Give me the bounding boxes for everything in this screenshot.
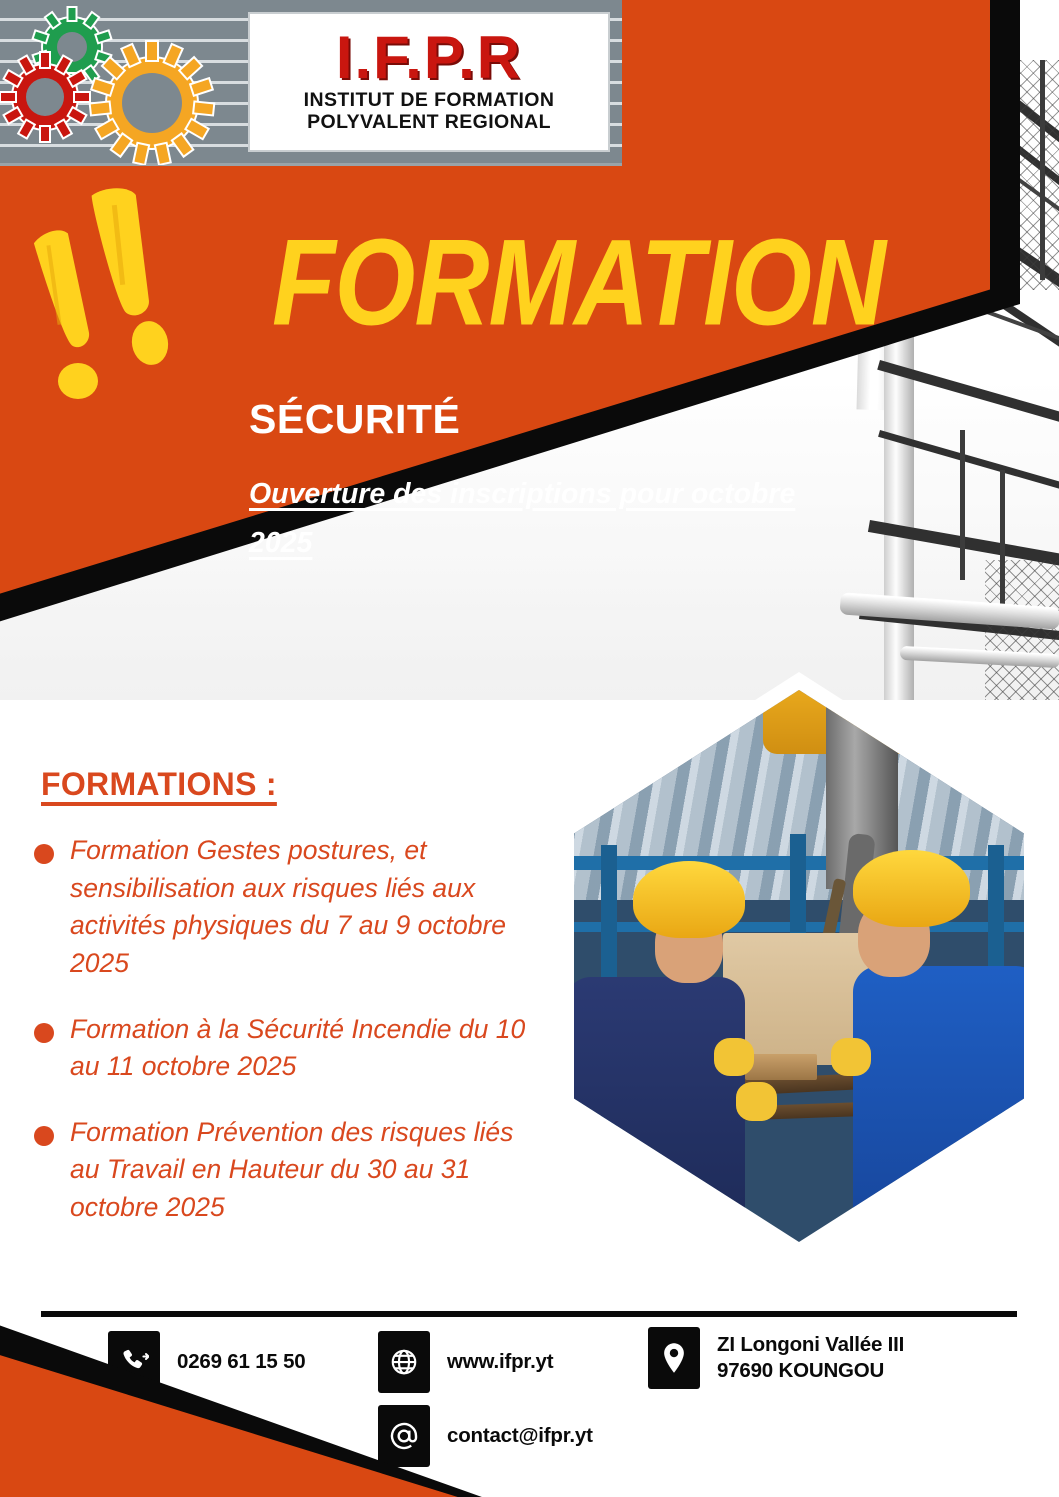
- hero-subject: SÉCURITÉ: [249, 396, 460, 443]
- list-item-label: Formation à la Sécurité Incendie du 10 a…: [70, 1011, 539, 1086]
- ifpr-logo: I.F.P.R INSTITUT DE FORMATION POLYVALENT…: [0, 0, 622, 166]
- email-address: contact@ifpr.yt: [447, 1423, 593, 1449]
- list-item-label: Formation Prévention des risques liés au…: [70, 1114, 539, 1227]
- formations-list: Formation Gestes postures, et sensibilis…: [34, 832, 539, 1255]
- list-item: Formation à la Sécurité Incendie du 10 a…: [34, 1011, 539, 1086]
- address-line-1: ZI Longoni Vallée III: [717, 1333, 904, 1356]
- page-title: FORMATION: [272, 222, 885, 345]
- workers-photo: [560, 672, 1038, 1260]
- globe-icon: [378, 1331, 430, 1393]
- list-item: Formation Prévention des risques liés au…: [34, 1114, 539, 1227]
- list-item-label: Formation Gestes postures, et sensibilis…: [70, 832, 539, 983]
- formations-heading: FORMATIONS :: [41, 766, 277, 803]
- bullet-icon: [34, 1023, 54, 1043]
- logo-acronym: I.F.P.R: [336, 29, 522, 86]
- logo-nameplate: I.F.P.R INSTITUT DE FORMATION POLYVALENT…: [248, 12, 610, 152]
- bullet-icon: [34, 844, 54, 864]
- at-sign-icon: [378, 1405, 430, 1467]
- list-item: Formation Gestes postures, et sensibilis…: [34, 832, 539, 983]
- hero-announcement: Ouverture des inscriptions pour octobre …: [249, 470, 849, 568]
- contact-email[interactable]: contact@ifpr.yt: [378, 1405, 593, 1467]
- phone-number: 0269 61 15 50: [177, 1349, 306, 1375]
- double-exclamation-icon: [20, 185, 210, 415]
- logo-subtitle-line2: POLYVALENT REGIONAL: [307, 111, 551, 133]
- bullet-icon: [34, 1126, 54, 1146]
- website-url: www.ifpr.yt: [447, 1349, 553, 1375]
- contact-address[interactable]: ZI Longoni Vallée III 97690 KOUNGOU: [648, 1327, 904, 1389]
- poster-root: I.F.P.R INSTITUT DE FORMATION POLYVALENT…: [0, 0, 1059, 1497]
- contact-website[interactable]: www.ifpr.yt: [378, 1331, 553, 1393]
- gears-icon: [0, 0, 248, 165]
- location-pin-icon: [648, 1327, 700, 1389]
- address-line-2: 97690 KOUNGOU: [717, 1359, 884, 1382]
- logo-subtitle-line1: INSTITUT DE FORMATION: [304, 89, 555, 111]
- footer-divider: [41, 1311, 1017, 1317]
